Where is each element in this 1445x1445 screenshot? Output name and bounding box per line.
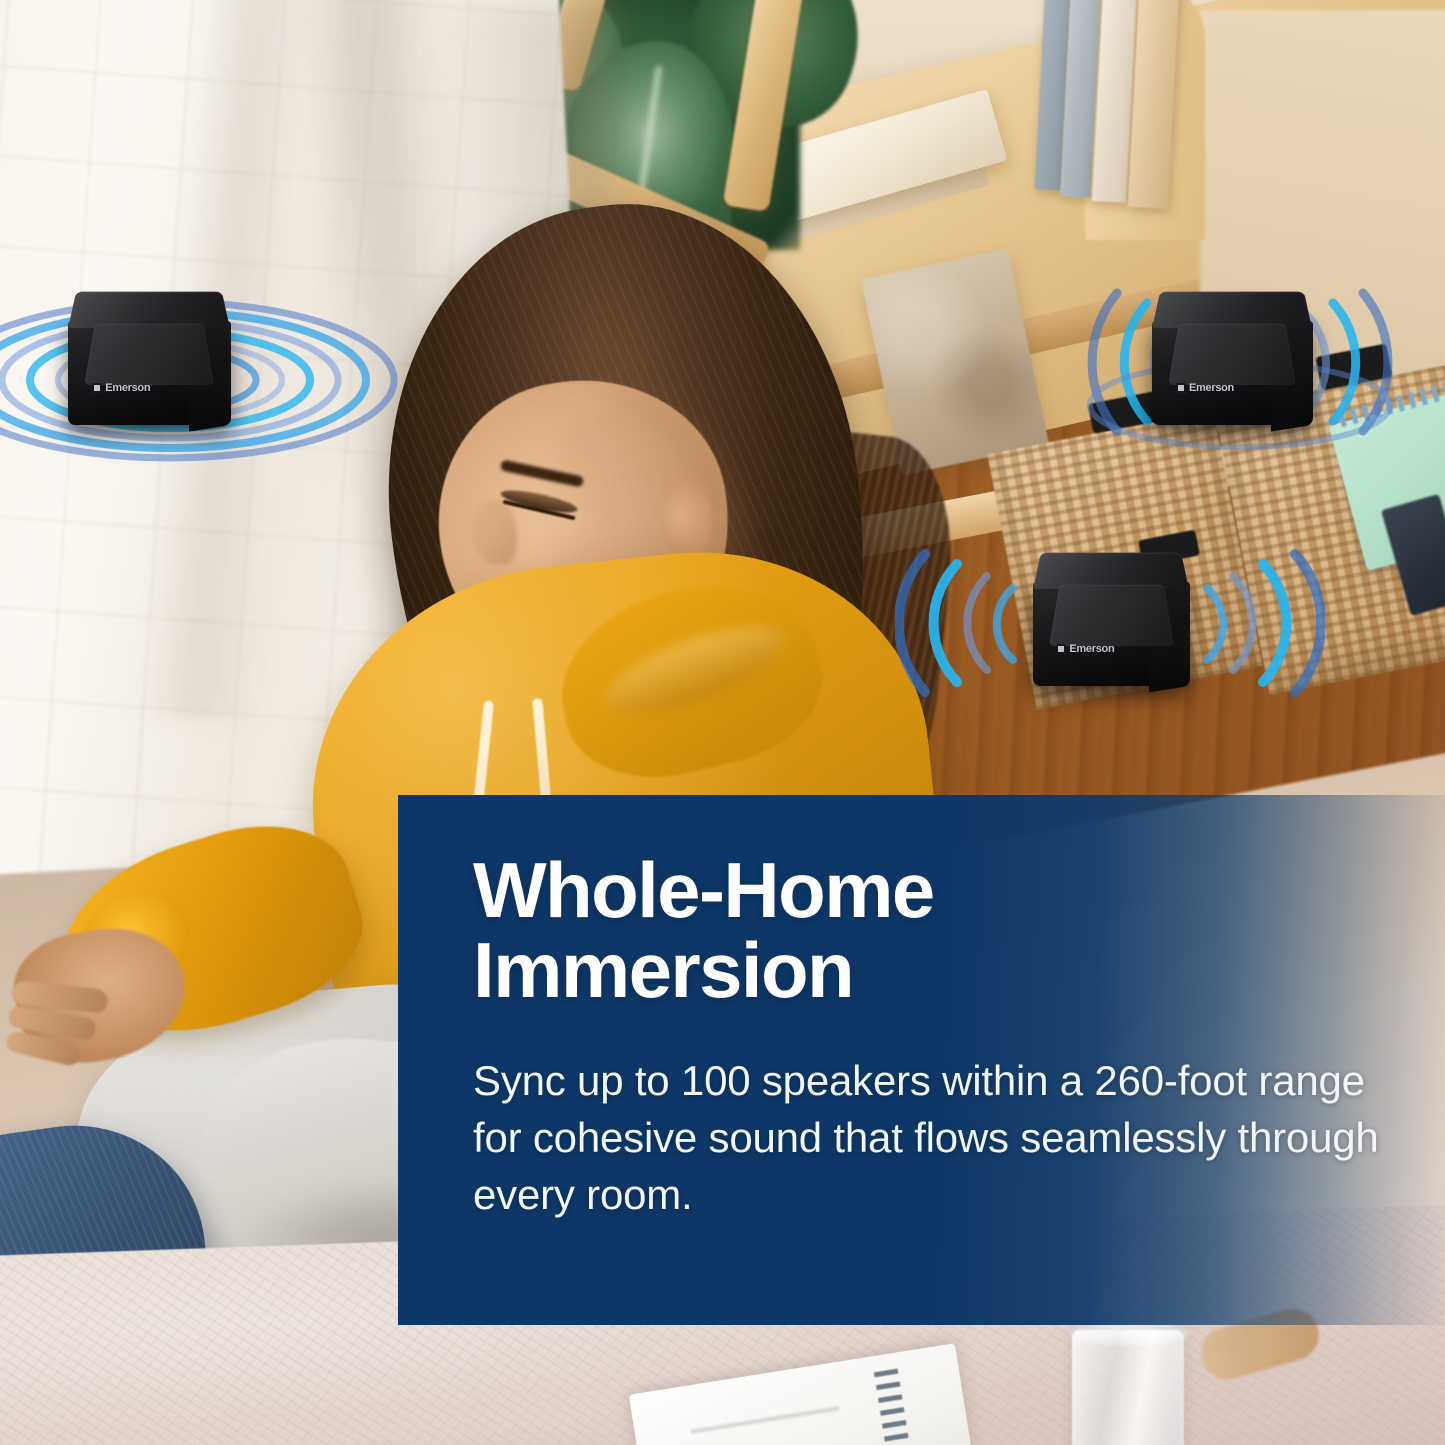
emerson-logo: Emerson: [1056, 643, 1114, 655]
emerson-speaker-cube: Emerson: [1033, 544, 1189, 686]
speaker-shelf-top: Emerson: [1025, 255, 1445, 470]
water-glass: [1072, 1330, 1184, 1445]
speaker-top-inset: [84, 324, 214, 386]
panel-title: Whole-Home Immersion: [473, 850, 1405, 1010]
panel-body-text: Sync up to 100 speakers within a 260-foo…: [473, 1052, 1403, 1223]
emerson-logo: Emerson: [92, 382, 150, 394]
emerson-logo-mark: [1056, 644, 1066, 654]
emerson-logo-text: Emerson: [1189, 382, 1234, 394]
emerson-speaker-cube: Emerson: [1152, 283, 1312, 425]
emerson-logo: Emerson: [1176, 382, 1234, 394]
marketing-image-canvas: Emerson: [0, 0, 1445, 1445]
panel-content: Whole-Home Immersion Sync up to 100 spea…: [473, 850, 1405, 1223]
emerson-speaker-cube: Emerson: [68, 283, 230, 425]
speaker-top-inset: [1049, 585, 1174, 647]
speaker-shelf-lower: Emerson: [895, 520, 1325, 725]
emerson-logo-mark: [92, 383, 102, 393]
speaker-top-inset: [1168, 324, 1296, 386]
emerson-logo-mark: [1176, 383, 1186, 393]
text-overlay-panel: Whole-Home Immersion Sync up to 100 spea…: [398, 795, 1445, 1325]
speaker-left: Emerson: [0, 250, 400, 480]
emerson-logo-text: Emerson: [1069, 643, 1114, 655]
emerson-logo-text: Emerson: [105, 382, 150, 394]
